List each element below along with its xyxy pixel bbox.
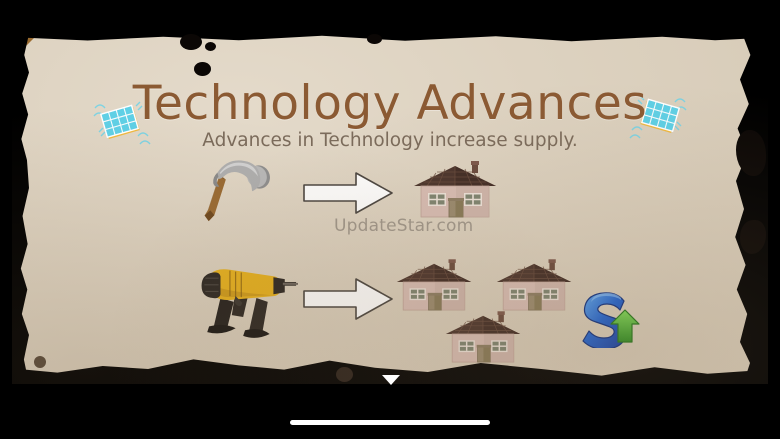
ink-blot (205, 42, 216, 51)
slide-subtitle: Advances in Technology increase supply. (12, 130, 768, 151)
ink-blot (180, 34, 202, 50)
hammer-icon (190, 152, 278, 234)
corner-fold (12, 34, 38, 60)
house-icon (395, 258, 473, 315)
nail-gun-icon (194, 256, 298, 346)
house-icon (495, 258, 573, 315)
ink-blot (367, 34, 382, 44)
home-indicator-bar (290, 420, 490, 425)
house-icon (444, 310, 522, 367)
ink-blot (194, 62, 211, 76)
torn-paper-border (12, 34, 768, 43)
right-arrow-icon (302, 170, 394, 220)
row-nail-gun (12, 252, 768, 372)
play-cursor-triangle[interactable] (382, 375, 400, 385)
slide-canvas: Technology Advances Advances in Technolo… (12, 34, 768, 384)
updatestar-logo (577, 286, 641, 348)
slide-title: Technology Advances (12, 76, 768, 131)
house-icon (412, 160, 498, 222)
right-arrow-icon (302, 276, 394, 326)
slide-viewer: Technology Advances Advances in Technolo… (0, 0, 780, 439)
corner-fold (742, 34, 768, 60)
watermark-text: UpdateStar.com (334, 216, 473, 236)
